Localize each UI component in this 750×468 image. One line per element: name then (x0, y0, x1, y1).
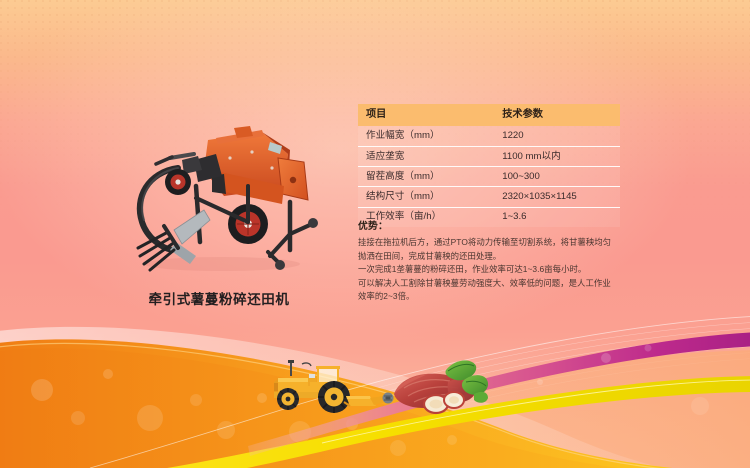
spec-item-value: 1220 (494, 126, 620, 146)
tractor-illustration (274, 360, 350, 413)
advantages-title: 优势： (358, 218, 630, 232)
advantages-line: 挂接在拖拉机后方，通过PTO将动力传输至切割系统，将甘薯秧均匀 (358, 236, 630, 250)
table-row: 结构尺寸（mm） 2320×1035×1145 (358, 187, 620, 207)
spec-item-value: 2320×1035×1145 (494, 187, 620, 207)
advantages-line: 抛洒在田间，完成甘薯秧的还田处理。 (358, 250, 630, 264)
spec-header-value: 技术参数 (494, 104, 620, 126)
sweet-potato-illustration (394, 360, 488, 413)
advantages-line: 一次完成1垄薯蔓的粉碎还田，作业效率可达1~3.6亩每小时。 (358, 263, 630, 277)
bottom-scene (258, 352, 488, 418)
sweet-potato-vine-crusher-machine-illustration (112, 124, 327, 276)
machine-photo (112, 124, 327, 276)
product-showcase: 牵引式薯蔓粉碎还田机 (104, 124, 334, 308)
spec-item-value: 100~300 (494, 167, 620, 187)
spec-header-item: 项目 (358, 104, 494, 126)
spec-table-header-row: 项目 技术参数 (358, 104, 620, 126)
towed-implement-illustration (344, 393, 394, 407)
slide-canvas: 牵引式薯蔓粉碎还田机 项目 技术参数 作业幅宽（mm） 1220 适应垄宽 11… (0, 0, 750, 468)
advantages-line: 可以解决人工割除甘薯秧蔓劳动强度大、效率低的问题，是人工作业 (358, 277, 630, 291)
tractor-and-potato-illustration (258, 352, 488, 418)
spec-table-head: 项目 技术参数 (358, 104, 620, 126)
spec-item-label: 留茬高度（mm） (358, 167, 494, 187)
table-row: 适应垄宽 1100 mm以内 (358, 146, 620, 166)
spec-item-value: 1100 mm以内 (494, 146, 620, 166)
advantages-line: 效率的2~3倍。 (358, 290, 630, 304)
spec-item-label: 作业幅宽（mm） (358, 126, 494, 146)
table-row: 作业幅宽（mm） 1220 (358, 126, 620, 146)
advantages-block: 优势： 挂接在拖拉机后方，通过PTO将动力传输至切割系统，将甘薯秧均匀 抛洒在田… (358, 218, 630, 304)
spec-item-label: 结构尺寸（mm） (358, 187, 494, 207)
spec-item-label: 适应垄宽 (358, 146, 494, 166)
spec-panel: 项目 技术参数 作业幅宽（mm） 1220 适应垄宽 1100 mm以内 留茬高… (358, 104, 620, 227)
table-row: 留茬高度（mm） 100~300 (358, 167, 620, 187)
spec-table: 项目 技术参数 作业幅宽（mm） 1220 适应垄宽 1100 mm以内 留茬高… (358, 104, 620, 227)
product-title: 牵引式薯蔓粉碎还田机 (104, 288, 334, 308)
spec-table-body: 作业幅宽（mm） 1220 适应垄宽 1100 mm以内 留茬高度（mm） 10… (358, 126, 620, 226)
